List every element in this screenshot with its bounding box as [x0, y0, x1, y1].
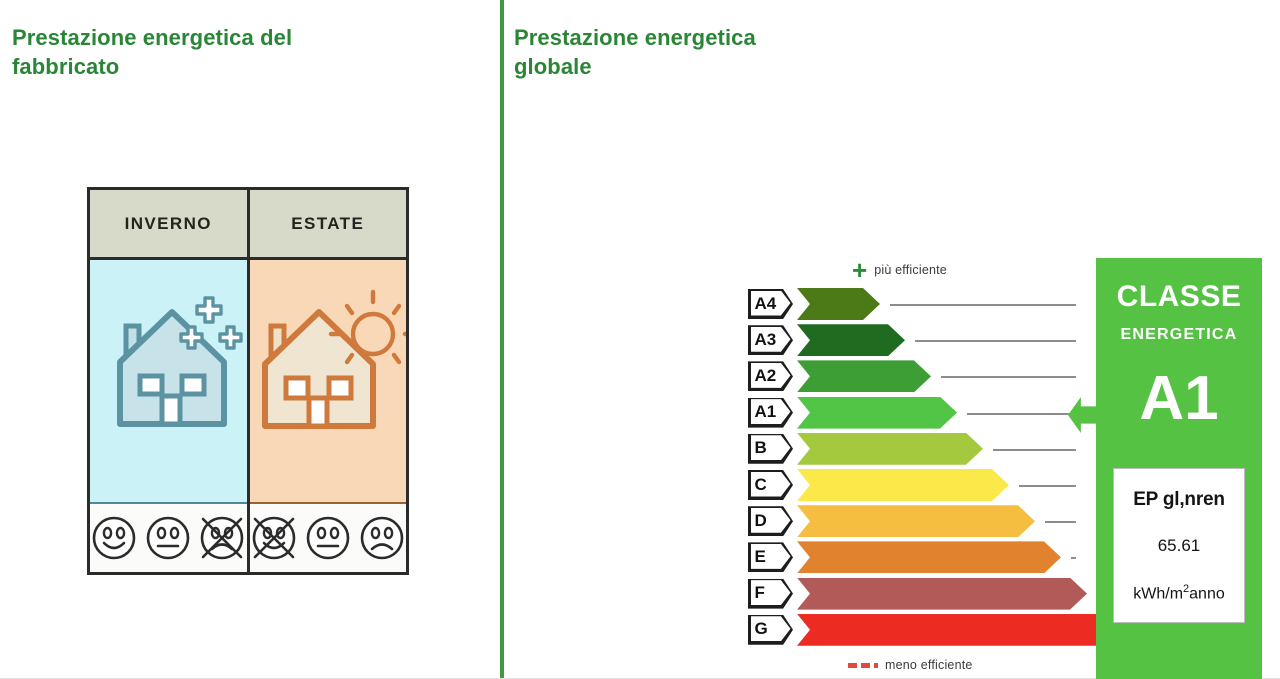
ep-unit: kWh/m2anno [1133, 583, 1225, 603]
class-badge-subtitle: ENERGETICA [1096, 326, 1262, 344]
face-sad-crossed [198, 514, 246, 562]
energy-bar-A1 [797, 397, 957, 429]
house-snow-icon [100, 284, 247, 444]
energy-bar-F [797, 578, 1087, 610]
energy-bar-leader-line [915, 340, 1076, 342]
ep-unit-suffix: anno [1189, 585, 1225, 602]
energy-bar-A4 [797, 288, 880, 320]
page-title-building: Prestazione energetica del fabbricato [12, 23, 292, 81]
energy-bar-leader-line [1045, 521, 1076, 523]
face-sad [358, 514, 406, 562]
summer-rating-faces [250, 504, 407, 572]
building-performance-panel: Prestazione energetica del fabbricato IN… [0, 0, 500, 678]
face-happy [90, 514, 138, 562]
energy-bar-D [797, 505, 1035, 537]
ep-label: EP gl,nren [1133, 489, 1225, 511]
face-neutral [304, 514, 352, 562]
seasons-table: INVERNO [87, 187, 409, 575]
energy-bar-G [797, 614, 1113, 646]
ep-unit-prefix: kWh/m [1133, 585, 1183, 602]
energy-bar-A3 [797, 324, 905, 356]
house-sun-icon [255, 284, 407, 444]
winter-rating-faces [90, 504, 247, 572]
energy-bar-C [797, 469, 1009, 501]
energy-bar-B [797, 433, 983, 465]
class-badge-title: CLASSE [1096, 280, 1262, 314]
energy-class-badge: CLASSE ENERGETICA A1 EP gl,nren 65.61 kW… [1096, 258, 1262, 679]
energy-bar-leader-line [1071, 557, 1076, 559]
energy-bar-leader-line [1019, 485, 1076, 487]
energy-bar-leader-line [993, 449, 1076, 451]
face-neutral [144, 514, 192, 562]
energy-bar-leader-line [941, 376, 1076, 378]
energy-bar-leader-line [890, 304, 1076, 306]
energy-bar-E [797, 541, 1061, 573]
season-column-winter: INVERNO [90, 190, 250, 572]
winter-illustration [90, 260, 247, 504]
energy-bar-A2 [797, 360, 931, 392]
summer-illustration [250, 260, 407, 504]
season-header-summer: ESTATE [250, 190, 407, 260]
ep-index-box: EP gl,nren 65.61 kWh/m2anno [1113, 468, 1245, 623]
ep-value: 65.61 [1158, 536, 1201, 556]
less-efficient-text: meno efficiente [885, 658, 973, 672]
less-efficient-label: meno efficiente [848, 654, 973, 676]
energy-bar-leader-line [967, 413, 1076, 415]
more-efficient-label: + più efficiente [852, 258, 947, 282]
minus-icon [848, 663, 878, 668]
more-efficient-text: più efficiente [874, 263, 947, 277]
plus-icon: + [852, 257, 867, 283]
ape-energy-certificate: Prestazione energetica del fabbricato IN… [0, 0, 1280, 679]
class-badge-value: A1 [1096, 368, 1262, 430]
season-header-winter: INVERNO [90, 190, 247, 260]
page-title-global: Prestazione energetica globale [514, 23, 756, 81]
face-happy-crossed [250, 514, 298, 562]
season-column-summer: ESTATE [250, 190, 407, 572]
